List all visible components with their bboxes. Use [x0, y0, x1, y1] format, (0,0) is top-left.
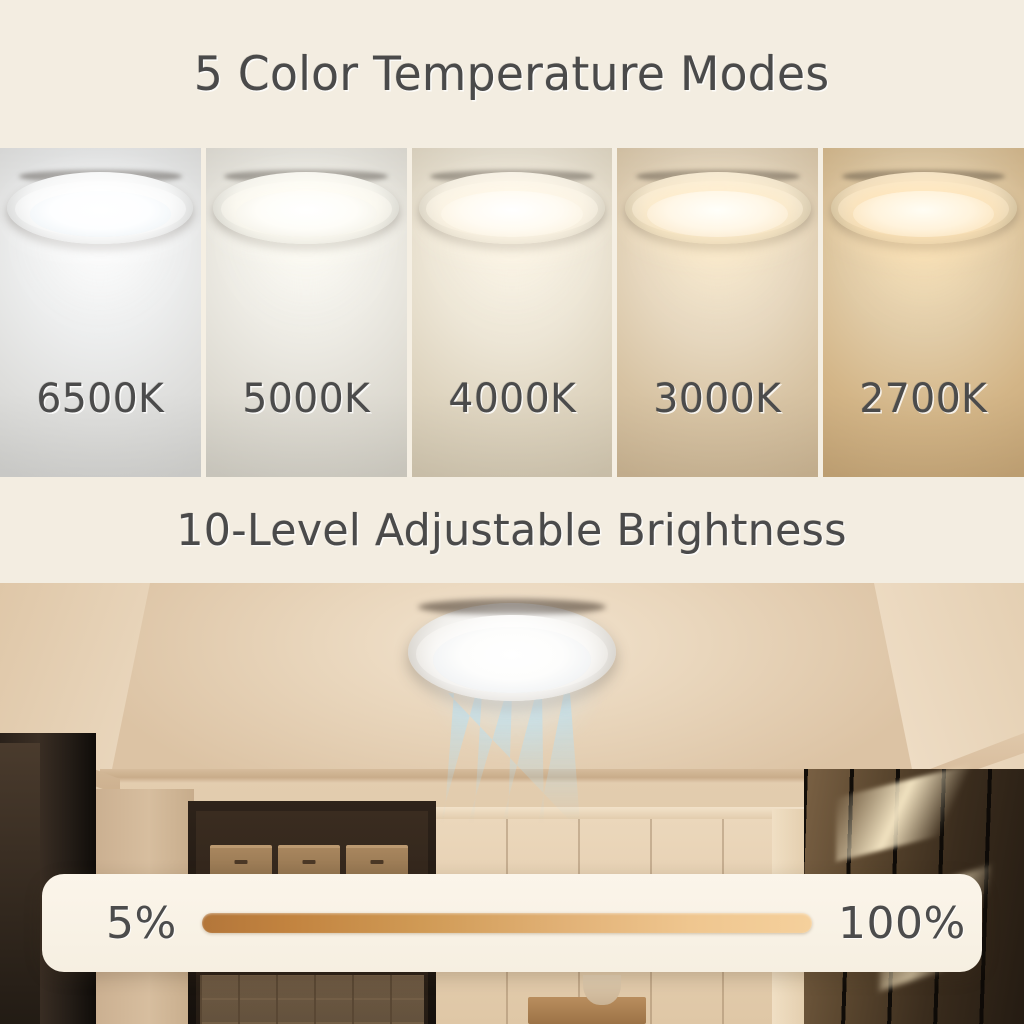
ct-label-6500k: 6500K — [2, 376, 199, 422]
ct-label-4000k: 4000K — [414, 376, 611, 422]
ct-panel-6500k: 6500K — [0, 148, 201, 478]
ct-label-5000k: 5000K — [208, 376, 405, 422]
light-cone — [206, 226, 407, 478]
ceiling-light-icon — [7, 172, 193, 244]
lamp-lens — [647, 191, 788, 237]
ct-label-2700k: 2700K — [825, 376, 1022, 422]
brightness-slider-track[interactable] — [202, 913, 812, 933]
product-infographic: 5 Color Temperature Modes 6500K 5 — [0, 0, 1024, 1024]
header-band: 5 Color Temperature Modes — [0, 0, 1024, 148]
lamp-lens — [853, 191, 994, 237]
side-table — [528, 997, 646, 1024]
light-cone — [412, 226, 613, 478]
ceiling-light-icon — [213, 172, 399, 244]
ceiling-light-icon — [419, 172, 605, 244]
room-ceiling-light-icon — [408, 603, 616, 701]
light-cone — [617, 226, 818, 478]
ct-label-3000k: 3000K — [619, 376, 816, 422]
brightness-max-label: 100% — [838, 898, 966, 949]
brightness-min-label: 5% — [106, 898, 202, 949]
door-glass — [0, 743, 40, 1024]
brightness-title: 10-Level Adjustable Brightness — [177, 505, 847, 556]
ct-panel-4000k: 4000K — [412, 148, 613, 478]
books-stack — [534, 987, 586, 998]
lamp-shadow — [418, 599, 605, 615]
brightness-slider-card[interactable]: 5% 100% — [42, 874, 982, 972]
color-temperature-strip: 6500K 5000K 4000K — [0, 148, 1024, 478]
ceiling-light-icon — [831, 172, 1017, 244]
ct-panel-2700k: 2700K — [823, 148, 1024, 478]
wine-rack — [200, 975, 424, 1024]
lamp-lens — [441, 191, 582, 237]
light-cone — [0, 226, 201, 478]
lamp-lens — [433, 627, 591, 694]
light-cone — [823, 226, 1024, 478]
ceiling-light-icon — [625, 172, 811, 244]
lamp-lens — [30, 191, 171, 237]
lamp-lens — [236, 191, 377, 237]
ct-panel-3000k: 3000K — [617, 148, 818, 478]
page-title: 5 Color Temperature Modes — [194, 47, 830, 102]
brightness-band: 10-Level Adjustable Brightness — [0, 477, 1024, 583]
ct-panel-5000k: 5000K — [206, 148, 407, 478]
